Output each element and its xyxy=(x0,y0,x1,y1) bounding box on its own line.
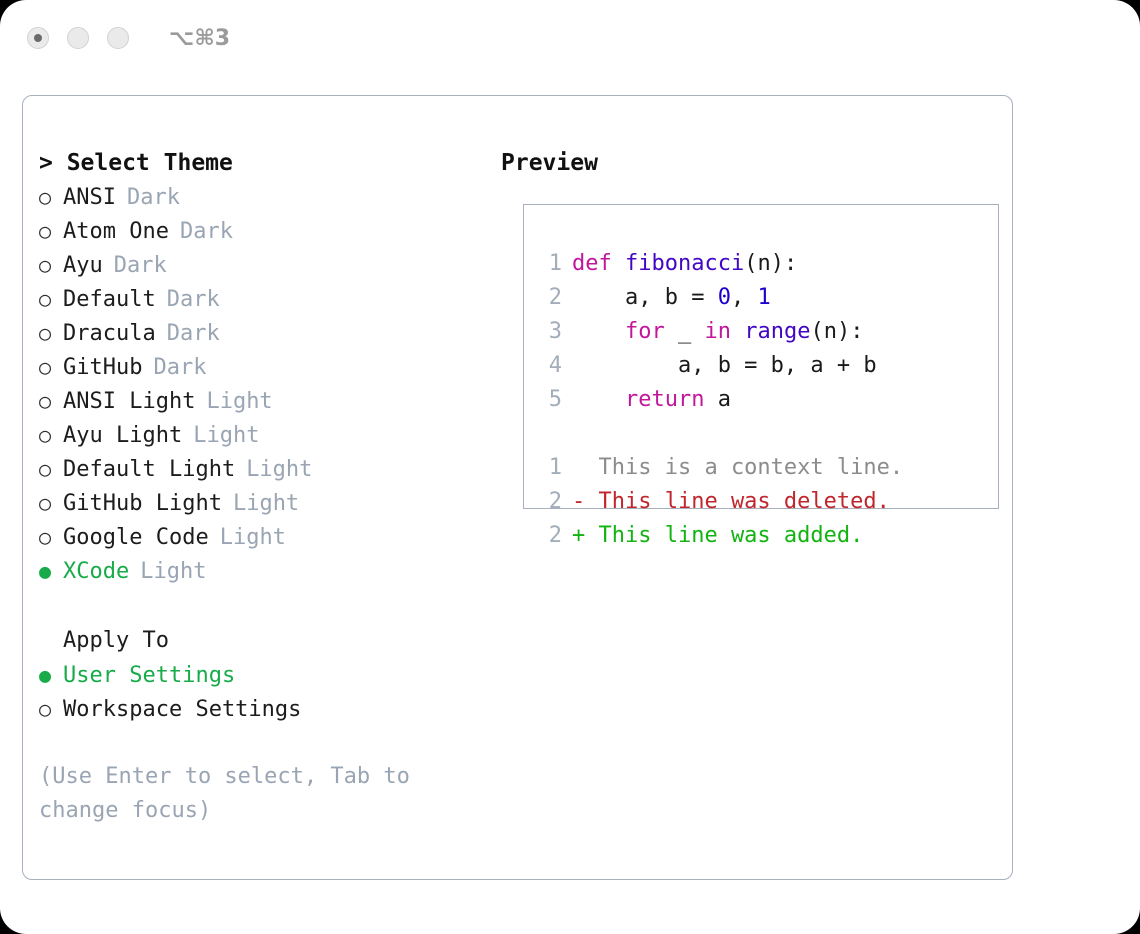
preview-code-box: 1def fibonacci(n):2 a, b = 0, 13 for _ i… xyxy=(523,204,999,509)
code-diff-spacer xyxy=(540,417,998,451)
theme-option-row[interactable]: ○DraculaDark xyxy=(39,316,489,350)
apply-to-label: Apply To xyxy=(39,624,489,658)
radio-unselected-icon[interactable]: ○ xyxy=(39,282,63,316)
theme-name-label: Ayu Light xyxy=(63,419,182,453)
diff-line: 1 This is a context line. xyxy=(540,451,998,485)
theme-option-row[interactable]: ○AyuDark xyxy=(39,248,489,282)
theme-variant-badge: Dark xyxy=(167,317,220,351)
theme-name-label: Dracula xyxy=(63,317,156,351)
theme-selector-column: > Select Theme ○ANSIDark○Atom OneDark○Ay… xyxy=(39,146,489,828)
code-token-plain: a, b = b, a + b xyxy=(572,353,877,378)
main-panel: > Select Theme ○ANSIDark○Atom OneDark○Ay… xyxy=(22,95,1013,880)
theme-option-row[interactable]: ●XCodeLight xyxy=(39,554,489,588)
code-token-kw: for xyxy=(625,319,665,344)
code-line: 3 for _ in range(n): xyxy=(540,315,998,349)
code-line-number: 3 xyxy=(540,315,562,349)
theme-option-row[interactable]: ○Default LightLight xyxy=(39,452,489,486)
code-token-fn: range xyxy=(744,319,810,344)
radio-unselected-icon[interactable]: ○ xyxy=(39,316,63,350)
code-line: 2 a, b = 0, 1 xyxy=(540,281,998,315)
theme-option-row[interactable]: ○Ayu LightLight xyxy=(39,418,489,452)
code-token-plain: , xyxy=(731,285,758,310)
diff-line-text-del: - This line was deleted. xyxy=(572,489,890,514)
code-line-number: 1 xyxy=(540,247,562,281)
theme-variant-badge: Light xyxy=(220,521,286,555)
theme-variant-badge: Light xyxy=(206,385,272,419)
title-bar: ⌥⌘3 xyxy=(0,0,1140,76)
radio-selected-icon[interactable]: ● xyxy=(39,658,63,692)
select-theme-heading: > Select Theme xyxy=(39,146,489,180)
diff-line: 2+ This line was added. xyxy=(540,519,998,553)
code-token-plain: a xyxy=(704,387,731,412)
apply-to-option-label: Workspace Settings xyxy=(63,693,301,727)
radio-unselected-icon[interactable]: ○ xyxy=(39,486,63,520)
window-dot-third[interactable] xyxy=(107,27,129,49)
code-token-plain xyxy=(731,319,744,344)
traffic-light-group xyxy=(27,27,147,49)
theme-variant-badge: Light xyxy=(246,453,312,487)
radio-unselected-icon[interactable]: ○ xyxy=(39,350,63,384)
code-token-plain: (n): xyxy=(810,319,863,344)
code-line-number: 5 xyxy=(540,383,562,417)
app-window: ⌥⌘3 > Select Theme ○ANSIDark○Atom OneDar… xyxy=(0,0,1140,934)
diff-line-text-ctx: This is a context line. xyxy=(572,455,903,480)
code-line-number: 2 xyxy=(540,281,562,315)
diff-sample-block: 1 This is a context line.2- This line wa… xyxy=(540,451,998,553)
code-line: 4 a, b = b, a + b xyxy=(540,349,998,383)
radio-unselected-icon[interactable]: ○ xyxy=(39,214,63,248)
code-token-num: 0 xyxy=(718,285,731,310)
theme-option-row[interactable]: ○DefaultDark xyxy=(39,282,489,316)
theme-variant-badge: Dark xyxy=(180,215,233,249)
theme-name-label: Default xyxy=(63,283,156,317)
code-token-plain: a, b = xyxy=(572,285,718,310)
preview-column: Preview 1def fibonacci(n):2 a, b = 0, 13… xyxy=(501,146,1001,180)
radio-unselected-icon[interactable]: ○ xyxy=(39,180,63,214)
radio-unselected-icon[interactable]: ○ xyxy=(39,520,63,554)
theme-name-label: GitHub xyxy=(63,351,142,385)
theme-variant-badge: Light xyxy=(193,419,259,453)
theme-name-label: Ayu xyxy=(63,249,103,283)
code-token-plain xyxy=(572,319,625,344)
code-token-plain xyxy=(572,387,625,412)
theme-name-label: Default Light xyxy=(63,453,235,487)
theme-name-label: GitHub Light xyxy=(63,487,222,521)
theme-name-label: Google Code xyxy=(63,521,209,555)
window-dot-indicator-icon xyxy=(34,34,42,42)
code-line: 5 return a xyxy=(540,383,998,417)
diff-line-number: 2 xyxy=(540,485,562,519)
code-token-kw: def xyxy=(572,251,625,276)
preview-heading: Preview xyxy=(501,146,1001,180)
diff-line-number: 2 xyxy=(540,519,562,553)
radio-unselected-icon[interactable]: ○ xyxy=(39,452,63,486)
apply-to-option-row[interactable]: ●User Settings xyxy=(39,658,489,692)
code-token-kw: in xyxy=(704,319,731,344)
theme-variant-badge: Dark xyxy=(153,351,206,385)
theme-variant-badge: Dark xyxy=(114,249,167,283)
keyboard-hint-text: (Use Enter to select, Tab to change focu… xyxy=(39,760,439,828)
theme-name-label: Atom One xyxy=(63,215,169,249)
radio-unselected-icon[interactable]: ○ xyxy=(39,692,63,726)
radio-unselected-icon[interactable]: ○ xyxy=(39,418,63,452)
theme-name-label: ANSI Light xyxy=(63,385,195,419)
window-dot-second[interactable] xyxy=(67,27,89,49)
diff-line-text-add: + This line was added. xyxy=(572,523,863,548)
code-token-kw: return xyxy=(625,387,704,412)
theme-option-row[interactable]: ○Atom OneDark xyxy=(39,214,489,248)
theme-variant-badge: Dark xyxy=(167,283,220,317)
theme-option-row[interactable]: ○Google CodeLight xyxy=(39,520,489,554)
apply-to-option-label: User Settings xyxy=(63,659,235,693)
diff-line-number: 1 xyxy=(540,451,562,485)
code-line: 1def fibonacci(n): xyxy=(540,247,998,281)
code-token-num: 1 xyxy=(757,285,770,310)
code-token-plain: (n): xyxy=(744,251,797,276)
radio-selected-icon[interactable]: ● xyxy=(39,554,63,588)
apply-to-option-list[interactable]: ●User Settings○Workspace Settings xyxy=(39,658,489,726)
window-shortcut-label: ⌥⌘3 xyxy=(169,26,230,51)
code-sample-block: 1def fibonacci(n):2 a, b = 0, 13 for _ i… xyxy=(540,247,998,417)
radio-unselected-icon[interactable]: ○ xyxy=(39,248,63,282)
theme-option-row[interactable]: ○ANSI LightLight xyxy=(39,384,489,418)
theme-option-row[interactable]: ○ANSIDark xyxy=(39,180,489,214)
code-line-number: 4 xyxy=(540,349,562,383)
apply-to-block: Apply To ●User Settings○Workspace Settin… xyxy=(39,624,489,726)
theme-name-label: XCode xyxy=(63,555,129,589)
code-token-plain: _ xyxy=(665,319,705,344)
radio-unselected-icon[interactable]: ○ xyxy=(39,384,63,418)
theme-list[interactable]: ○ANSIDark○Atom OneDark○AyuDark○DefaultDa… xyxy=(39,180,489,588)
code-token-fn: fibonacci xyxy=(625,251,744,276)
theme-variant-badge: Dark xyxy=(127,181,180,215)
theme-variant-badge: Light xyxy=(140,555,206,589)
theme-variant-badge: Light xyxy=(233,487,299,521)
diff-line: 2- This line was deleted. xyxy=(540,485,998,519)
theme-name-label: ANSI xyxy=(63,181,116,215)
apply-to-option-row[interactable]: ○Workspace Settings xyxy=(39,692,489,726)
theme-option-row[interactable]: ○GitHub LightLight xyxy=(39,486,489,520)
theme-option-row[interactable]: ○GitHubDark xyxy=(39,350,489,384)
window-dot-active[interactable] xyxy=(27,27,49,49)
